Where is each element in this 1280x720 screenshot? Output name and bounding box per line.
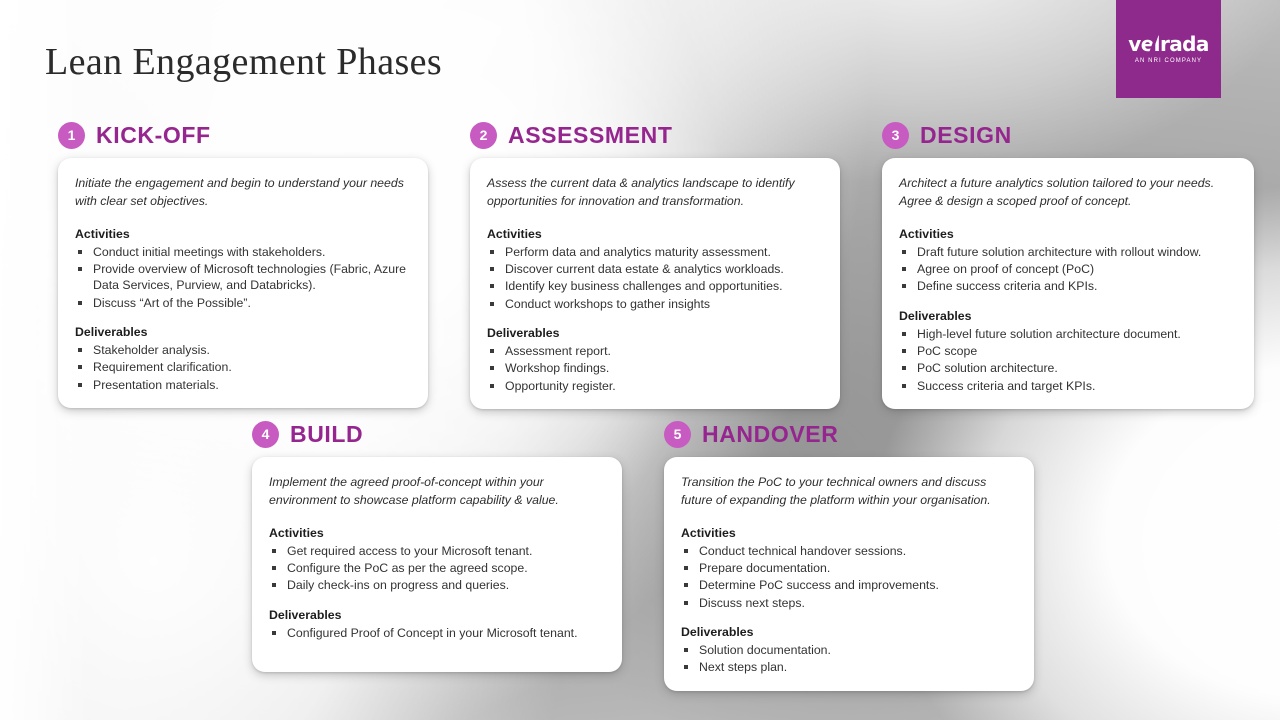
- list-item: Stakeholder analysis.: [75, 342, 408, 358]
- list-item: Agree on proof of concept (PoC): [899, 261, 1234, 277]
- phase-card: Architect a future analytics solution ta…: [882, 158, 1254, 409]
- list-item: Requirement clarification.: [75, 359, 408, 375]
- phase-title: KICK-OFF: [96, 122, 211, 149]
- phase-block-design: 3 DESIGN Architect a future analytics so…: [882, 120, 1254, 409]
- phase-title: BUILD: [290, 421, 363, 448]
- phase-header: 2 ASSESSMENT: [470, 120, 840, 150]
- phase-block-build: 4 BUILD Implement the agreed proof-of-co…: [252, 419, 622, 672]
- phase-intro: Assess the current data & analytics land…: [487, 175, 820, 211]
- list-item: Perform data and analytics maturity asse…: [487, 244, 820, 260]
- list-item: High-level future solution architecture …: [899, 326, 1234, 342]
- phase-card: Initiate the engagement and begin to und…: [58, 158, 428, 408]
- deliverables-label: Deliverables: [269, 608, 602, 622]
- phase-header: 1 KICK-OFF: [58, 120, 428, 150]
- list-item: Discuss “Art of the Possible”.: [75, 295, 408, 311]
- phase-number-badge: 2: [470, 122, 497, 149]
- deliverables-list: Stakeholder analysis. Requirement clarif…: [75, 342, 408, 393]
- list-item: Assessment report.: [487, 343, 820, 359]
- phase-card: Transition the PoC to your technical own…: [664, 457, 1034, 691]
- list-item: Conduct workshops to gather insights: [487, 296, 820, 312]
- phase-card: Implement the agreed proof-of-concept wi…: [252, 457, 622, 672]
- phase-card: Assess the current data & analytics land…: [470, 158, 840, 409]
- deliverables-list: Assessment report. Workshop findings. Op…: [487, 343, 820, 394]
- activities-list: Get required access to your Microsoft te…: [269, 543, 602, 594]
- list-item: Solution documentation.: [681, 642, 1014, 658]
- phase-title: ASSESSMENT: [508, 122, 672, 149]
- phase-header: 3 DESIGN: [882, 120, 1254, 150]
- slide-canvas: velrada AN NRI COMPANY Lean Engagement P…: [0, 0, 1280, 720]
- activities-label: Activities: [899, 227, 1234, 241]
- phase-title: HANDOVER: [702, 421, 838, 448]
- phase-number-badge: 3: [882, 122, 909, 149]
- phase-intro: Architect a future analytics solution ta…: [899, 175, 1234, 211]
- list-item: Determine PoC success and improvements.: [681, 577, 1014, 593]
- list-item: Next steps plan.: [681, 659, 1014, 675]
- list-item: Define success criteria and KPIs.: [899, 278, 1234, 294]
- phase-number-badge: 1: [58, 122, 85, 149]
- deliverables-list: High-level future solution architecture …: [899, 326, 1234, 394]
- phase-intro: Initiate the engagement and begin to und…: [75, 175, 408, 211]
- activities-list: Conduct technical handover sessions. Pre…: [681, 543, 1014, 611]
- page-title: Lean Engagement Phases: [45, 40, 442, 84]
- velrada-logo: velrada AN NRI COMPANY: [1116, 0, 1221, 98]
- list-item: Opportunity register.: [487, 378, 820, 394]
- deliverables-label: Deliverables: [899, 309, 1234, 323]
- deliverables-label: Deliverables: [75, 325, 408, 339]
- list-item: Workshop findings.: [487, 360, 820, 376]
- phase-block-handover: 5 HANDOVER Transition the PoC to your te…: [664, 419, 1034, 691]
- list-item: PoC solution architecture.: [899, 360, 1234, 376]
- activities-list: Draft future solution architecture with …: [899, 244, 1234, 295]
- phase-number-badge: 5: [664, 421, 691, 448]
- list-item: Discover current data estate & analytics…: [487, 261, 820, 277]
- list-item: Success criteria and target KPIs.: [899, 378, 1234, 394]
- activities-list: Perform data and analytics maturity asse…: [487, 244, 820, 312]
- phase-intro: Implement the agreed proof-of-concept wi…: [269, 474, 602, 510]
- activities-label: Activities: [681, 526, 1014, 540]
- activities-label: Activities: [75, 227, 408, 241]
- list-item: Conduct technical handover sessions.: [681, 543, 1014, 559]
- phase-intro: Transition the PoC to your technical own…: [681, 474, 1014, 510]
- list-item: Configure the PoC as per the agreed scop…: [269, 560, 602, 576]
- phase-block-assessment: 2 ASSESSMENT Assess the current data & a…: [470, 120, 840, 409]
- phase-header: 5 HANDOVER: [664, 419, 1034, 449]
- phase-header: 4 BUILD: [252, 419, 622, 449]
- list-item: Discuss next steps.: [681, 595, 1014, 611]
- logo-tagline: AN NRI COMPANY: [1135, 58, 1202, 64]
- list-item: Daily check-ins on progress and queries.: [269, 577, 602, 593]
- deliverables-label: Deliverables: [681, 625, 1014, 639]
- deliverables-list: Solution documentation. Next steps plan.: [681, 642, 1014, 676]
- deliverables-label: Deliverables: [487, 326, 820, 340]
- list-item: PoC scope: [899, 343, 1234, 359]
- activities-list: Conduct initial meetings with stakeholde…: [75, 244, 408, 311]
- list-item: Configured Proof of Concept in your Micr…: [269, 625, 602, 641]
- logo-wordmark-text: velrada: [1128, 32, 1208, 56]
- phase-block-kick-off: 1 KICK-OFF Initiate the engagement and b…: [58, 120, 428, 408]
- deliverables-list: Configured Proof of Concept in your Micr…: [269, 625, 602, 641]
- phase-number-badge: 4: [252, 421, 279, 448]
- list-item: Identify key business challenges and opp…: [487, 278, 820, 294]
- activities-label: Activities: [487, 227, 820, 241]
- list-item: Presentation materials.: [75, 377, 408, 393]
- list-item: Conduct initial meetings with stakeholde…: [75, 244, 408, 260]
- phase-title: DESIGN: [920, 122, 1012, 149]
- activities-label: Activities: [269, 526, 602, 540]
- logo-wordmark: velrada: [1128, 34, 1208, 54]
- list-item: Draft future solution architecture with …: [899, 244, 1234, 260]
- list-item: Prepare documentation.: [681, 560, 1014, 576]
- list-item: Get required access to your Microsoft te…: [269, 543, 602, 559]
- list-item: Provide overview of Microsoft technologi…: [75, 261, 408, 294]
